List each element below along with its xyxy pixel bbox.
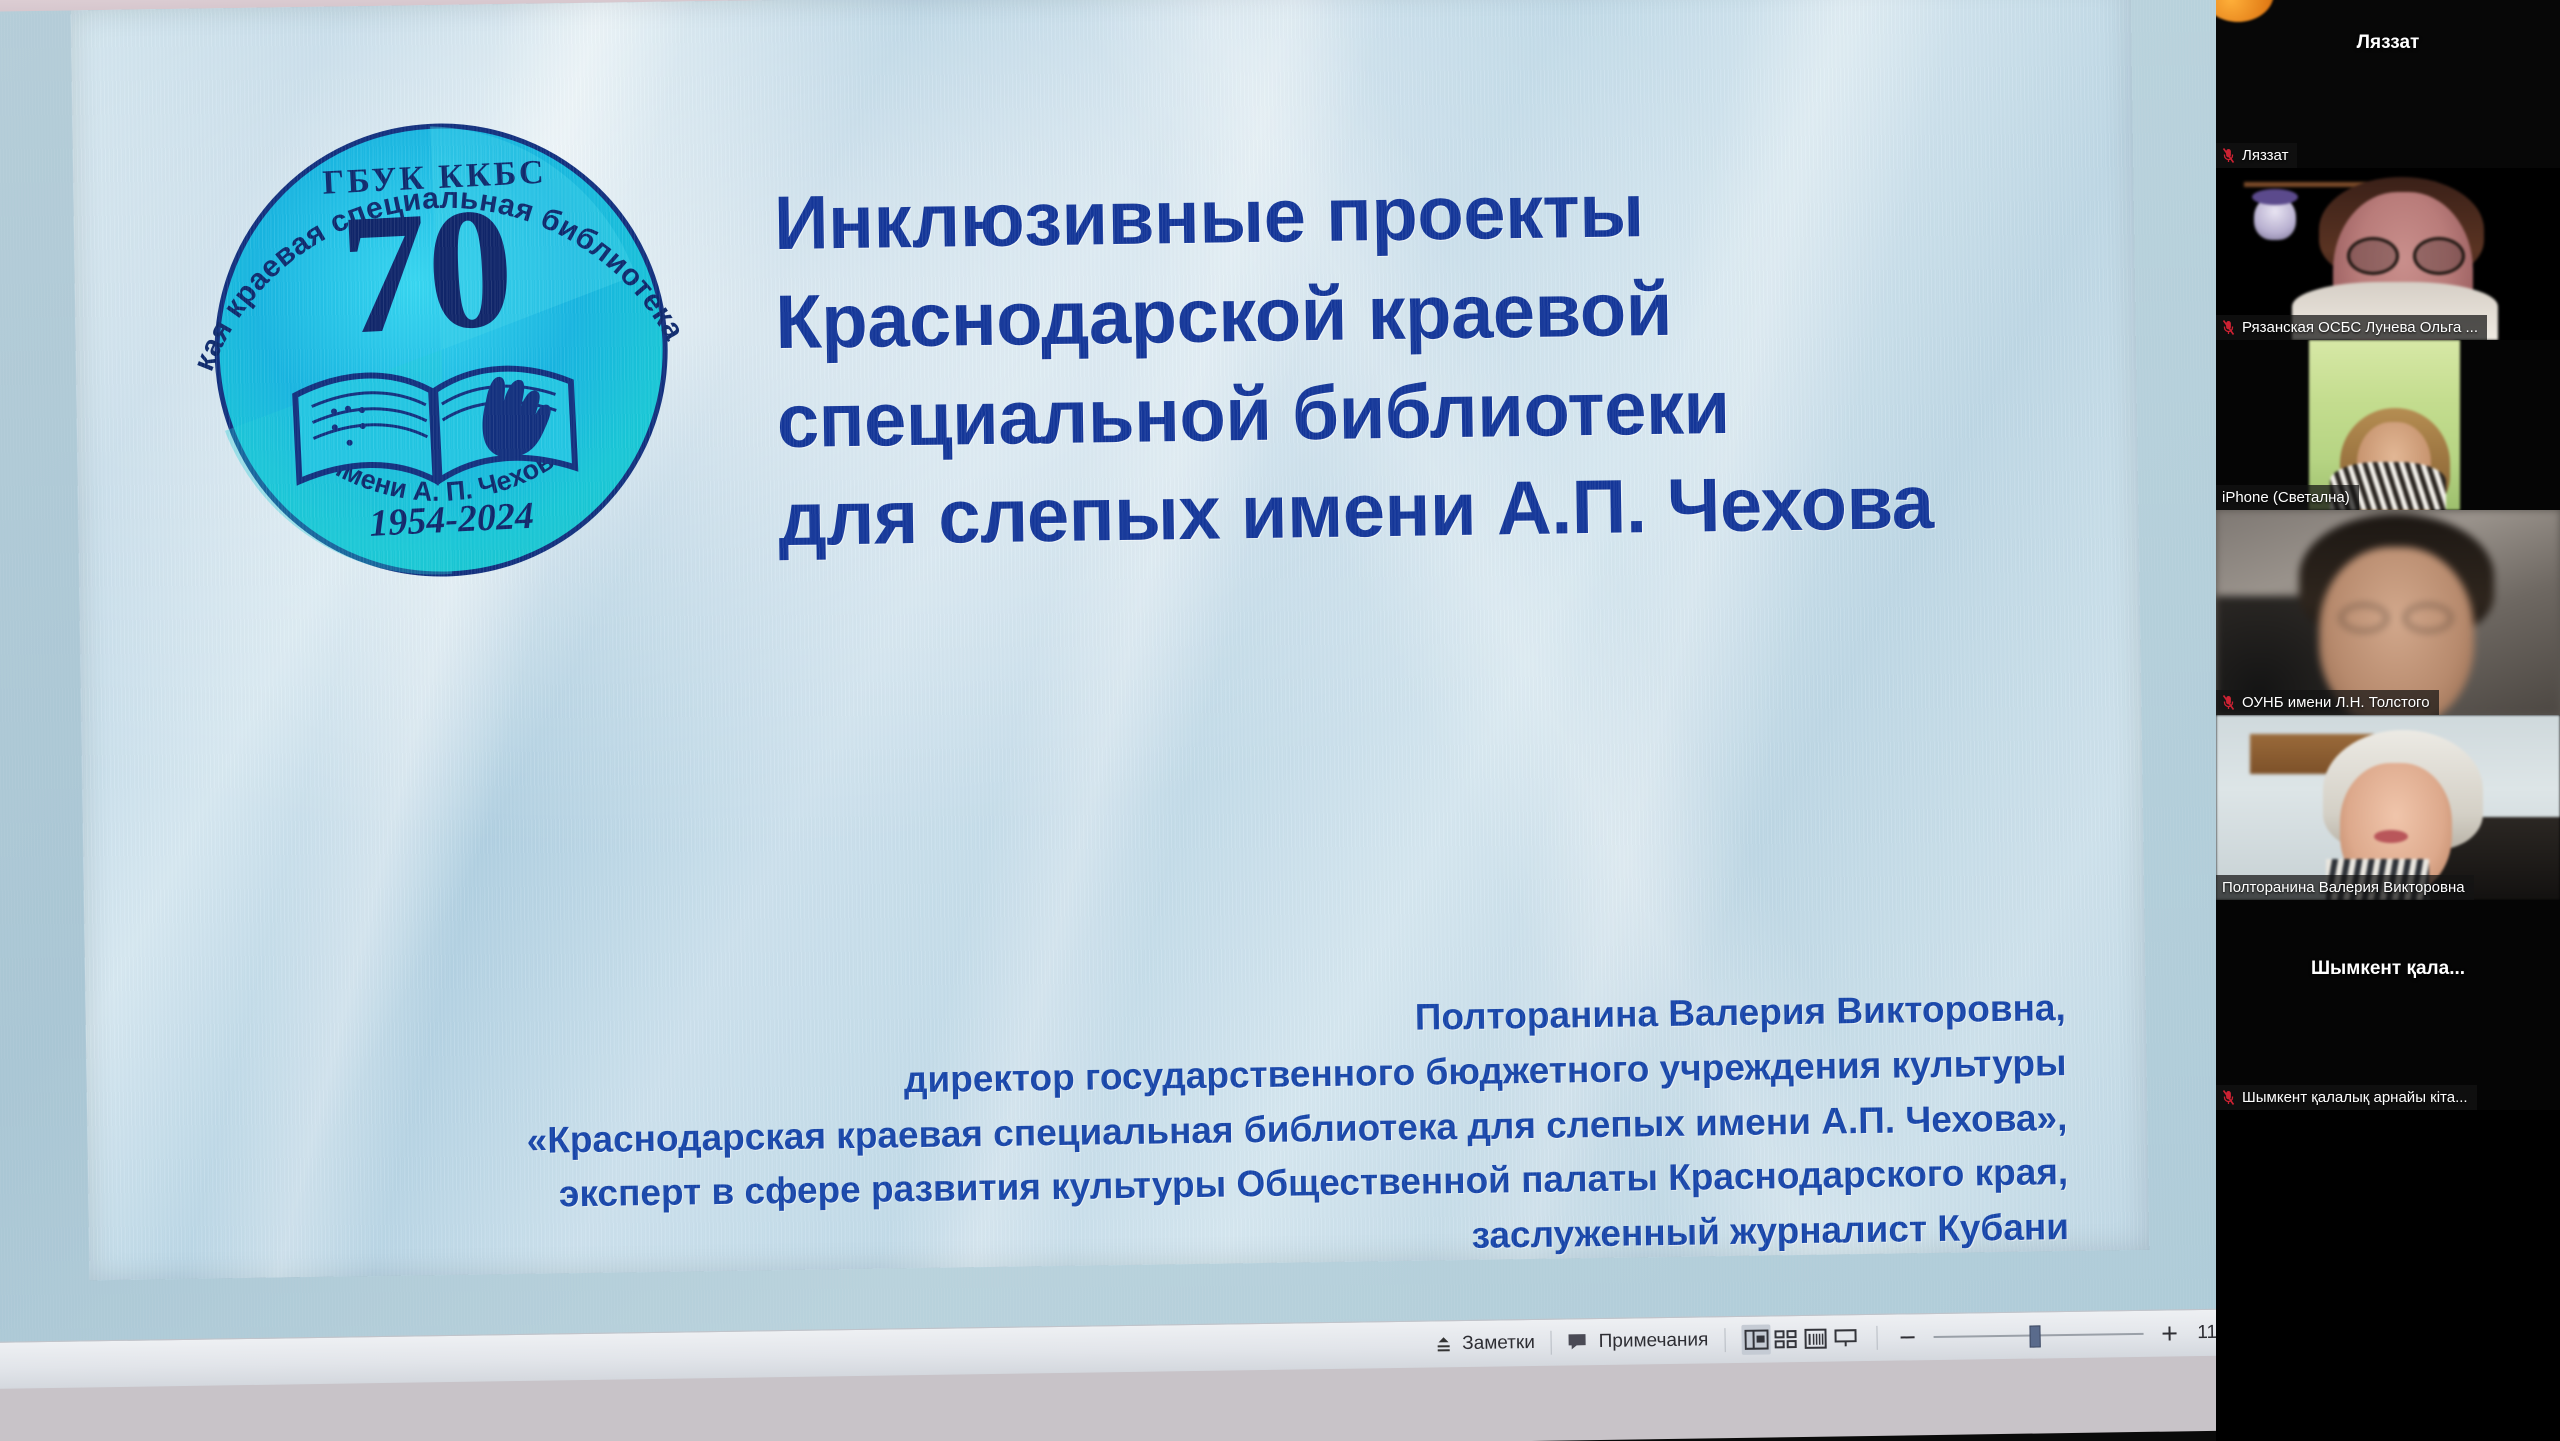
slide-author-block[interactable]: Полторанина Валерия Викторовна, директор… (266, 981, 2070, 1280)
zoom-tile-3-nameplate: iPhone (Светална) (2216, 485, 2359, 510)
notes-button[interactable]: Заметки (1433, 1332, 1535, 1356)
library-logo: Краснодарская краевая специальная библио… (147, 46, 734, 633)
powerpoint-window: Шрифт Абзац Рисование Редактирование ⌐ ⌐ (0, 0, 2292, 1441)
view-slideshow-button[interactable] (1830, 1323, 1860, 1353)
zoom-tile-6[interactable]: Шымкент қала... Шымкент қалалық арнайы к… (2216, 900, 2560, 1110)
slide-title[interactable]: Инклюзивные проекты Краснодарской краево… (773, 155, 2109, 570)
zoom-slider-thumb[interactable] (2029, 1325, 2040, 1347)
zoom-tile-5-nameplate: Полторанина Валерия Викторовна (2216, 875, 2474, 900)
comments-label: Примечания (1599, 1329, 1709, 1353)
status-divider-3 (1876, 1326, 1877, 1350)
microphone-muted-icon (2222, 148, 2235, 163)
view-slide-sorter-button[interactable] (1771, 1324, 1801, 1354)
zoom-tile-5[interactable]: Полторанина Валерия Викторовна (2216, 715, 2560, 900)
logo-years: 1954-2024 (368, 495, 535, 545)
zoom-in-button[interactable] (2155, 1319, 2183, 1347)
reading-view-icon (1804, 1328, 1828, 1350)
slide-title-line-4: для слепых имени А.П. Чехова (778, 452, 2109, 571)
zoom-tile-5-name: Полторанина Валерия Викторовна (2222, 879, 2465, 896)
decorative-light-blob (2216, 0, 2274, 22)
logo-anniversary-number: 70 (337, 172, 518, 370)
view-reading-button[interactable] (1801, 1324, 1831, 1354)
slide-title-line-1: Инклюзивные проекты (773, 155, 2104, 274)
zoom-tile-1-name: Ляззат (2242, 147, 2288, 164)
status-divider-2 (1724, 1328, 1725, 1352)
comments-button[interactable]: Примечания (1568, 1329, 1709, 1353)
normal-view-icon (1744, 1328, 1768, 1350)
slide-title-line-2: Краснодарской краевой (775, 254, 2106, 373)
status-divider-1 (1551, 1331, 1552, 1355)
zoom-slider-track[interactable] (1933, 1333, 2143, 1338)
zoom-tile-3[interactable]: iPhone (Светална) (2216, 340, 2560, 510)
microphone-muted-icon (2222, 1090, 2235, 1105)
notes-icon (1433, 1334, 1453, 1354)
screenshot-root: Шрифт Абзац Рисование Редактирование ⌐ ⌐ (0, 0, 2560, 1441)
zoom-tile-6-name: Шымкент қалалық арнайы кіта... (2242, 1089, 2468, 1106)
notes-label: Заметки (1462, 1332, 1535, 1355)
zoom-tile-4-name: ОУНБ имени Л.Н. Толстого (2242, 694, 2430, 711)
active-speaker-name: Ляззат (2216, 32, 2560, 54)
zoom-tile-5-video (2216, 715, 2560, 900)
slide-canvas[interactable]: Краснодарская краевая специальная библио… (0, 0, 2290, 1342)
zoom-tile-4-video (2216, 510, 2560, 715)
zoom-tile-6-center-name: Шымкент қала... (2216, 958, 2560, 980)
slide-1[interactable]: Краснодарская краевая специальная библио… (71, 0, 2150, 1280)
microphone-muted-icon (2222, 320, 2235, 335)
zoom-tile-3-name: iPhone (Светална) (2222, 489, 2350, 506)
microphone-muted-icon (2222, 695, 2235, 710)
zoom-tile-1[interactable]: Ляззат Ляззат (2216, 0, 2560, 168)
view-normal-button[interactable] (1741, 1324, 1771, 1354)
zoom-out-button[interactable] (1893, 1323, 1921, 1351)
zoom-tile-6-nameplate: Шымкент қалалық арнайы кіта... (2216, 1085, 2477, 1110)
zoom-tile-1-nameplate: Ляззат (2216, 143, 2297, 168)
zoom-tile-4-nameplate: ОУНБ имени Л.Н. Толстого (2216, 690, 2439, 715)
zoom-tile-2-nameplate: Рязанская ОСБС Лунева Ольга ... (2216, 315, 2487, 340)
slideshow-icon (1833, 1327, 1857, 1349)
zoom-tile-4[interactable]: ОУНБ имени Л.Н. Толстого (2216, 510, 2560, 715)
zoom-participant-panel[interactable]: Ляззат Ляззат (2216, 0, 2560, 1441)
comment-bubble-icon (1568, 1333, 1590, 1351)
zoom-tile-7-empty[interactable] (2216, 1110, 2560, 1440)
zoom-tile-2-name: Рязанская ОСБС Лунева Ольга ... (2242, 319, 2478, 336)
slide-sorter-icon (1774, 1328, 1798, 1350)
zoom-tile-2[interactable]: Рязанская ОСБС Лунева Ольга ... (2216, 168, 2560, 340)
